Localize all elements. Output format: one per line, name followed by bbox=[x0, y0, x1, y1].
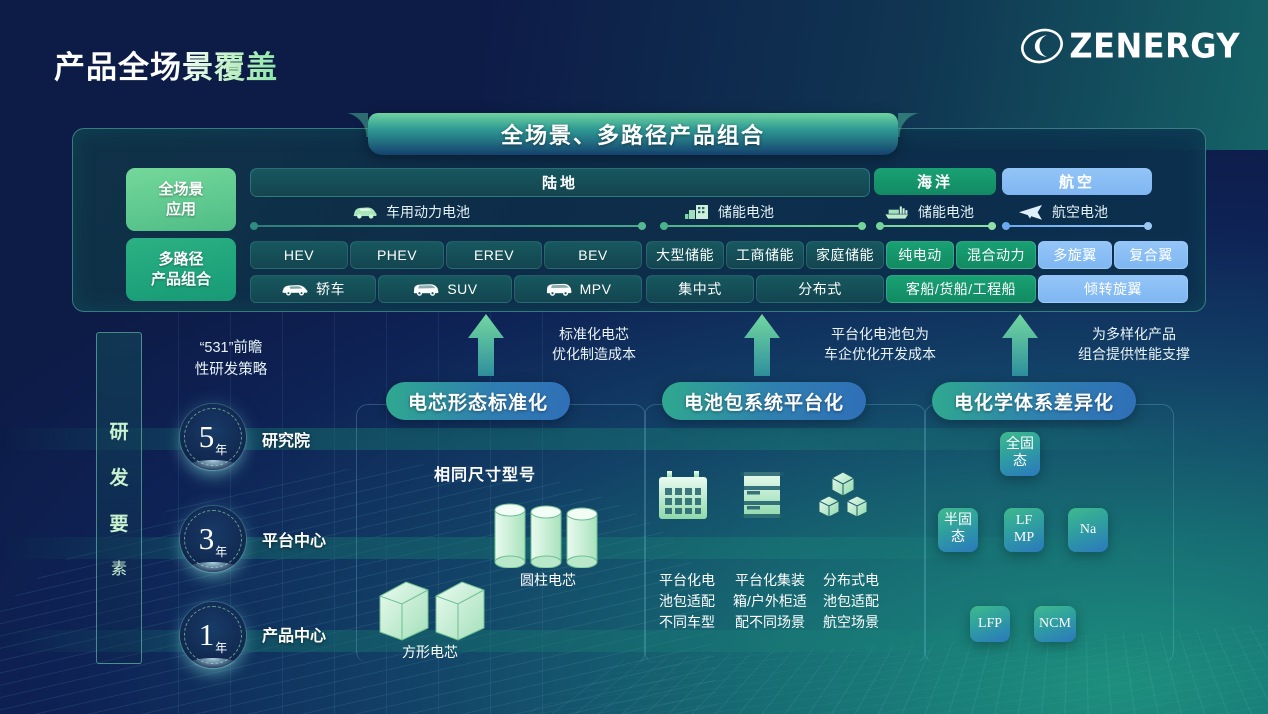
factory-icon bbox=[684, 203, 710, 221]
brand-logo: ZENERGY bbox=[1020, 26, 1240, 66]
caption-platform-container: 平台化集装 箱/户外柜适 配不同场景 bbox=[726, 570, 814, 633]
usecase-land-storage-label: 储能电池 bbox=[718, 202, 774, 222]
chip-large-storage[interactable]: 大型储能 bbox=[646, 241, 724, 269]
rail-char-3: 要 bbox=[109, 509, 128, 536]
stage-unit-5: 年 bbox=[215, 441, 227, 458]
caption-platform-pack: 平台化电 池包适配 不同车型 bbox=[648, 570, 726, 633]
caption-platform-pack-line3: 不同车型 bbox=[648, 612, 726, 633]
chip-vessels[interactable]: 客船/货船/工程船 bbox=[886, 275, 1036, 303]
stage-number-3: 3 bbox=[199, 521, 215, 557]
row-label-scenarios-line1: 全场景 bbox=[158, 180, 203, 200]
zenergy-mark-icon bbox=[1020, 26, 1064, 66]
row-label-portfolio-line2: 产品组合 bbox=[151, 270, 211, 290]
rd-elements-rail: 研 发 要 素 bbox=[96, 332, 142, 664]
prismatic-cells-illustration bbox=[376, 574, 488, 642]
badge-lfmp-line1: LF bbox=[1016, 513, 1032, 530]
ring-number-group: 3 年 bbox=[180, 506, 246, 572]
note-differentiation: 为多样化产品 组合提供性能支撑 bbox=[1054, 324, 1214, 365]
car-icon bbox=[352, 203, 378, 221]
cylindrical-cells-illustration bbox=[493, 500, 603, 568]
stage-unit-1: 年 bbox=[215, 639, 227, 656]
rail-char-4: 素 bbox=[111, 555, 127, 579]
caption-distributed-pack-line1: 分布式电 bbox=[812, 570, 890, 591]
pill-chemistry-differentiation[interactable]: 电化学体系差异化 bbox=[932, 382, 1136, 420]
chip-distributed[interactable]: 分布式 bbox=[756, 275, 884, 303]
note-differentiation-line1: 为多样化产品 bbox=[1054, 324, 1214, 344]
logo-wordmark: ZENERGY bbox=[1069, 26, 1240, 66]
chip-sedan-label: 轿车 bbox=[316, 279, 345, 299]
stage-unit-3: 年 bbox=[215, 543, 227, 560]
row-label-scenarios: 全场景 应用 bbox=[126, 168, 236, 231]
chip-suv[interactable]: SUV bbox=[378, 275, 512, 303]
mpv-icon bbox=[545, 281, 573, 297]
chip-hev[interactable]: HEV bbox=[250, 241, 348, 269]
plane-icon bbox=[1018, 203, 1044, 221]
badge-all-solid-state-line2: 态 bbox=[1013, 454, 1027, 471]
usecase-land-storage-battery: 储能电池 bbox=[684, 202, 774, 222]
badge-all-solid-state[interactable]: 全固 态 bbox=[1000, 432, 1040, 476]
up-arrow-icon-3 bbox=[1000, 314, 1040, 376]
caption-platform-container-line3: 配不同场景 bbox=[726, 612, 814, 633]
row-label-scenarios-line2: 应用 bbox=[166, 200, 196, 220]
caption-distributed-pack: 分布式电 池包适配 航空场景 bbox=[812, 570, 890, 633]
chip-pure-electric[interactable]: 纯电动 bbox=[886, 241, 954, 269]
chip-bev[interactable]: BEV bbox=[544, 241, 642, 269]
scenario-tab-land[interactable]: 陆地 bbox=[250, 168, 870, 197]
badge-na-line1: Na bbox=[1080, 522, 1096, 539]
row-label-portfolio-line1: 多路径 bbox=[158, 250, 203, 270]
usecase-vehicle-label: 车用动力电池 bbox=[386, 202, 470, 222]
chip-sedan[interactable]: 轿车 bbox=[250, 275, 376, 303]
same-size-model-heading: 相同尺寸型号 bbox=[434, 461, 536, 485]
chip-multirotor[interactable]: 多旋翼 bbox=[1038, 241, 1112, 269]
up-arrow-icon-2 bbox=[742, 314, 782, 376]
panel-title-banner: 全场景、多路径产品组合 bbox=[368, 113, 898, 155]
chip-mpv-label: MPV bbox=[580, 281, 612, 297]
stage-ring-3y: 3 年 bbox=[180, 506, 246, 572]
stage-ring-5y: 5 年 bbox=[180, 404, 246, 470]
chip-phev[interactable]: PHEV bbox=[350, 241, 444, 269]
rail-char-1: 研 bbox=[109, 417, 128, 444]
badge-semi-solid-state-line1: 半固 bbox=[944, 513, 972, 530]
chip-centralized[interactable]: 集中式 bbox=[646, 275, 754, 303]
usecase-sea-storage-label: 储能电池 bbox=[918, 202, 974, 222]
connector-line-land-vehicle bbox=[250, 225, 646, 227]
note-platformization-line1: 平台化电池包为 bbox=[800, 324, 960, 344]
chip-compound-wing[interactable]: 复合翼 bbox=[1114, 241, 1188, 269]
badge-ncm-line1: NCM bbox=[1039, 616, 1071, 633]
badge-lfmp[interactable]: LF MP bbox=[1004, 508, 1044, 552]
chip-mpv[interactable]: MPV bbox=[514, 275, 642, 303]
strategy-line2: 性研发策略 bbox=[166, 360, 296, 382]
stage-label-research-institute: 研究院 bbox=[262, 427, 310, 451]
badge-semi-solid-state-line2: 态 bbox=[951, 530, 965, 547]
note-standardization: 标准化电芯 优化制造成本 bbox=[524, 324, 664, 365]
badge-na[interactable]: Na bbox=[1068, 508, 1108, 552]
scenario-tab-sea[interactable]: 海洋 bbox=[874, 168, 996, 195]
ring-number-group: 1 年 bbox=[180, 602, 246, 668]
connector-line-land-storage bbox=[660, 225, 866, 227]
pill-cell-standardization[interactable]: 电芯形态标准化 bbox=[386, 382, 570, 420]
note-standardization-line1: 标准化电芯 bbox=[524, 324, 664, 344]
badge-ncm[interactable]: NCM bbox=[1034, 606, 1076, 642]
chip-home-storage[interactable]: 家庭储能 bbox=[806, 241, 884, 269]
caption-cylindrical-cell: 圆柱电芯 bbox=[490, 570, 606, 591]
badge-all-solid-state-line1: 全固 bbox=[1006, 437, 1034, 454]
row-label-portfolio: 多路径 产品组合 bbox=[126, 238, 236, 301]
caption-prismatic-cell: 方形电芯 bbox=[374, 642, 486, 663]
caption-distributed-pack-line3: 航空场景 bbox=[812, 612, 890, 633]
battery-grid-icon bbox=[657, 470, 709, 520]
stage-number-5: 5 bbox=[199, 419, 215, 455]
suv-icon bbox=[412, 281, 440, 297]
cube-network-icon bbox=[817, 470, 869, 520]
connector-line-air bbox=[1002, 225, 1152, 227]
badge-lfp[interactable]: LFP bbox=[970, 606, 1010, 642]
chip-suv-label: SUV bbox=[447, 281, 477, 297]
note-platformization-line2: 车企优化开发成本 bbox=[800, 344, 960, 364]
usecase-sea-storage-battery: 储能电池 bbox=[884, 202, 974, 222]
badge-semi-solid-state[interactable]: 半固 态 bbox=[938, 508, 978, 552]
ring-number-group: 5 年 bbox=[180, 404, 246, 470]
stage-number-1: 1 bbox=[199, 617, 215, 653]
note-standardization-line2: 优化制造成本 bbox=[524, 344, 664, 364]
caption-platform-pack-line2: 池包适配 bbox=[648, 591, 726, 612]
stage-ring-1y: 1 年 bbox=[180, 602, 246, 668]
page-title: 产品全场景覆盖 bbox=[54, 42, 278, 87]
caption-platform-container-line1: 平台化集装 bbox=[726, 570, 814, 591]
chip-tiltrotor[interactable]: 倾转旋翼 bbox=[1038, 275, 1188, 303]
scenario-tab-air[interactable]: 航空 bbox=[1002, 168, 1152, 195]
strategy-caption: “531”前瞻 性研发策略 bbox=[166, 338, 296, 382]
usecase-aviation-battery: 航空电池 bbox=[1018, 202, 1108, 222]
pill-pack-platformization[interactable]: 电池包系统平台化 bbox=[662, 382, 866, 420]
connector-line-sea bbox=[876, 225, 996, 227]
chip-commercial-storage[interactable]: 工商储能 bbox=[726, 241, 804, 269]
strategy-line1: “531”前瞻 bbox=[166, 338, 296, 360]
badge-lfp-line1: LFP bbox=[978, 616, 1002, 633]
stage-label-platform-center: 平台中心 bbox=[262, 527, 326, 551]
stage-label-product-center: 产品中心 bbox=[262, 622, 326, 646]
slide-canvas: 产品全场景覆盖 ZENERGY 全场景、多路径产品组合 全场景 应用 多路径 产… bbox=[0, 0, 1268, 714]
note-differentiation-line2: 组合提供性能支撑 bbox=[1054, 344, 1214, 364]
caption-platform-pack-line1: 平台化电 bbox=[648, 570, 726, 591]
chip-hybrid-power[interactable]: 混合动力 bbox=[956, 241, 1036, 269]
usecase-vehicle-battery: 车用动力电池 bbox=[352, 202, 470, 222]
rail-char-2: 发 bbox=[109, 463, 128, 490]
usecase-aviation-label: 航空电池 bbox=[1052, 202, 1108, 222]
chip-erev[interactable]: EREV bbox=[446, 241, 542, 269]
ship-icon bbox=[884, 203, 910, 221]
rack-icon bbox=[740, 470, 784, 520]
caption-distributed-pack-line2: 池包适配 bbox=[812, 591, 890, 612]
note-platformization: 平台化电池包为 车企优化开发成本 bbox=[800, 324, 960, 365]
badge-lfmp-line2: MP bbox=[1014, 530, 1034, 547]
up-arrow-icon-1 bbox=[466, 314, 506, 376]
caption-platform-container-line2: 箱/户外柜适 bbox=[726, 591, 814, 612]
sedan-icon bbox=[281, 281, 309, 297]
